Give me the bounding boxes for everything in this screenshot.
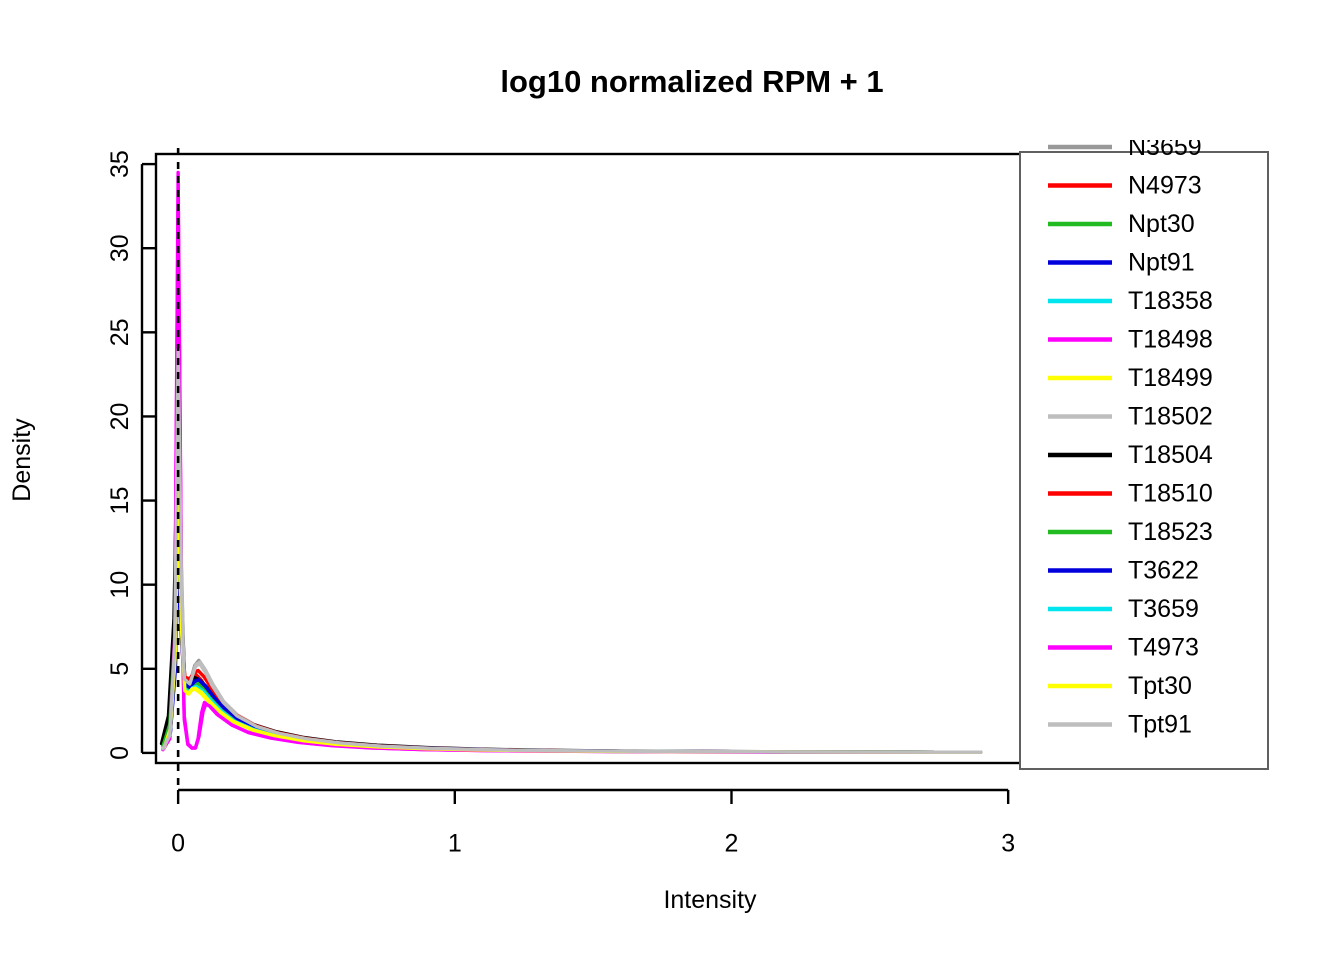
density-curve-t18502 [163,316,981,753]
legend-label-tpt30: Tpt30 [1128,672,1192,700]
density-curve-tpt91 [163,349,981,752]
legend-label-n4973: N4973 [1128,172,1202,200]
y-tick-label: 20 [106,403,134,431]
density-curve-t3659 [164,475,980,752]
legend-label-t18523: T18523 [1128,518,1213,546]
legend-label-t18502: T18502 [1128,403,1213,431]
x-axis: 0123 [171,790,1015,858]
legend-label-t18498: T18498 [1128,326,1213,354]
legend-label-npt30: Npt30 [1128,210,1195,238]
legend-label-t18358: T18358 [1128,287,1213,315]
x-tick-label: 3 [1001,830,1015,858]
density-curve-t18510 [164,517,980,752]
density-curve-npt30 [163,433,981,752]
y-axis-label: Density [8,418,36,502]
x-tick-label: 2 [725,830,739,858]
density-curve-t18504 [162,400,981,753]
density-plot-figure: log10 normalized RPM + 1 Density Intensi… [0,0,1344,960]
legend-label-t18499: T18499 [1128,364,1213,392]
density-curve-t3622 [164,551,980,752]
density-curve-t18358 [164,459,980,753]
y-tick-label: 10 [106,571,134,599]
density-curves [162,173,981,753]
page-title: log10 normalized RPM + 1 [500,64,883,99]
legend-label-t4973: T4973 [1128,634,1199,662]
y-tick-label: 25 [106,318,134,346]
density-curve-tpt30 [164,492,980,752]
density-curve-n4973 [164,501,980,753]
legend-label-t3622: T3622 [1128,557,1199,585]
y-tick-label: 15 [106,487,134,515]
density-curve-t4973 [163,198,981,752]
density-curve-npt91 [164,534,980,752]
plot-box-border [156,154,1022,763]
plot-canvas: log10 normalized RPM + 1 Density Intensi… [0,0,1344,960]
legend-label-t3659: T3659 [1128,595,1199,623]
x-tick-label: 0 [171,830,185,858]
y-tick-label: 0 [106,746,134,760]
y-axis: 05101520253035 [106,150,156,760]
legend-label-t18510: T18510 [1128,480,1213,508]
x-axis-label: Intensity [663,886,757,914]
density-curve-t18498 [163,173,981,753]
legend-label-t18504: T18504 [1128,441,1213,469]
density-curve-n3659 [163,282,981,752]
y-tick-label: 35 [106,150,134,178]
y-tick-label: 5 [106,662,134,676]
legend-label-n3659: N3659 [1128,133,1202,161]
legend-label-npt91: Npt91 [1128,249,1195,277]
density-curve-t18523 [163,450,981,752]
density-curve-t18499 [164,484,980,752]
x-tick-label: 1 [448,830,462,858]
legend[interactable]: N3659N4973Npt30Npt91T18358T18498T18499T1… [1020,133,1268,769]
legend-label-tpt91: Tpt91 [1128,711,1192,739]
plot-frame [156,154,1022,763]
y-tick-label: 30 [106,234,134,262]
